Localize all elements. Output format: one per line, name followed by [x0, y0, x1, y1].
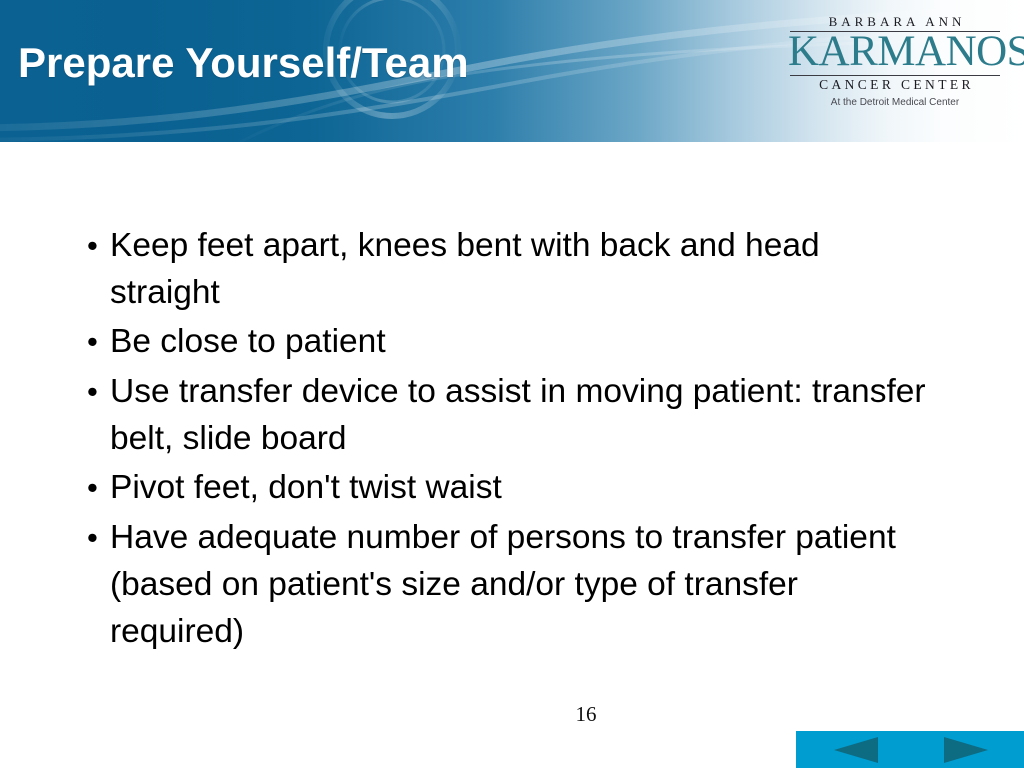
karmanos-logo: BARBARA ANN KARMANOS CANCER CENTER At th… [788, 14, 1002, 109]
list-item-text: Use transfer device to assist in moving … [110, 368, 938, 462]
triangle-left-icon[interactable] [834, 737, 878, 763]
presentation-slide: Prepare Yourself/Team BARBARA ANN KARMAN… [0, 0, 1024, 768]
logo-line-cancer-center: CANCER CENTER [788, 76, 1002, 93]
page-number: 16 [556, 701, 616, 727]
list-item-text: Pivot feet, don't twist waist [110, 464, 938, 511]
list-item: • Keep feet apart, knees bent with back … [78, 222, 968, 316]
logo-wordmark-karmanos: KARMANOS [788, 30, 1002, 74]
list-item: • Use transfer device to assist in movin… [78, 368, 968, 462]
list-item: • Have adequate number of persons to tra… [78, 514, 968, 655]
slide-body-content: • Keep feet apart, knees bent with back … [78, 222, 968, 657]
logo-tagline: At the Detroit Medical Center [788, 96, 1002, 109]
bullet-point-icon: • [78, 368, 110, 416]
list-item-text: Have adequate number of persons to trans… [110, 514, 938, 655]
list-item: • Pivot feet, don't twist waist [78, 464, 968, 512]
bullet-point-icon: • [78, 318, 110, 366]
slide-navigation-bar[interactable] [796, 731, 1024, 768]
bullet-point-icon: • [78, 514, 110, 562]
list-item-text: Keep feet apart, knees bent with back an… [110, 222, 938, 316]
list-item: • Be close to patient [78, 318, 968, 366]
list-item-text: Be close to patient [110, 318, 938, 365]
triangle-right-icon[interactable] [944, 737, 988, 763]
bullet-point-icon: • [78, 464, 110, 512]
logo-line-barbara-ann: BARBARA ANN [788, 14, 1002, 29]
slide-header-banner: Prepare Yourself/Team BARBARA ANN KARMAN… [0, 0, 1024, 142]
bullet-point-icon: • [78, 222, 110, 270]
page-title: Prepare Yourself/Team [18, 38, 469, 88]
